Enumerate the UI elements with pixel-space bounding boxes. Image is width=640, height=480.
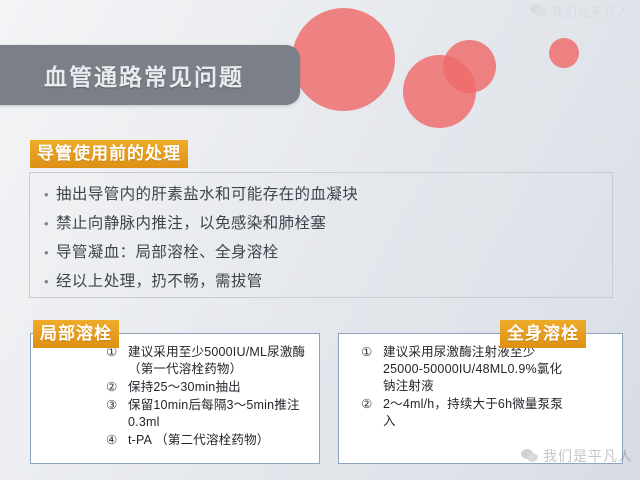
list-item-line: 建议采用至少5000IU/ML尿激酶 [128, 344, 305, 361]
bullet-dot-icon: • [44, 246, 56, 259]
list-item-number: ② [106, 379, 128, 396]
list-item-line: 入 [383, 413, 563, 430]
list-item-line: 2～4ml/h，持续大于6h微量泵泵 [383, 396, 563, 413]
list-item: ③ 保留10min后每隔3～5min推注 0.3ml [106, 397, 311, 431]
list-item-number: ③ [106, 397, 128, 414]
page-title: 血管通路常见问题 [44, 58, 244, 92]
local-thrombolysis-list: ① 建议采用至少5000IU/ML尿激酶 （第一代溶栓药物） ② 保持25～30… [31, 334, 319, 449]
list-item-line: 0.3ml [128, 414, 300, 431]
watermark-text: 我们是平凡人 [552, 3, 630, 20]
list-item-body: t-PA （第二代溶栓药物） [128, 432, 269, 449]
bullet-text: 禁止向静脉内推注，以免感染和肺栓塞 [56, 211, 326, 233]
list-item-line: （第一代溶栓药物） [128, 361, 305, 378]
list-item: ② 保持25～30min抽出 [106, 379, 311, 396]
local-thrombolysis-panel: ① 建议采用至少5000IU/ML尿激酶 （第一代溶栓药物） ② 保持25～30… [30, 333, 320, 464]
list-item: • 经以上处理，扔不畅，需拔管 [30, 269, 612, 298]
bullet-dot-icon: • [44, 275, 56, 288]
list-item-number: ① [361, 344, 383, 361]
list-item-body: 保留10min后每隔3～5min推注 0.3ml [128, 397, 300, 431]
bullet-text: 导管凝血：局部溶栓、全身溶栓 [56, 240, 279, 262]
bullet-text: 经以上处理，扔不畅，需拔管 [56, 269, 263, 291]
list-item: • 禁止向静脉内推注，以免感染和肺栓塞 [30, 211, 612, 240]
list-item-body: 建议采用至少5000IU/ML尿激酶 （第一代溶栓药物） [128, 344, 305, 378]
bullet-text: 抽出导管内的肝素盐水和可能存在的血凝块 [56, 182, 358, 204]
list-item-body: 2～4ml/h，持续大于6h微量泵泵 入 [383, 396, 563, 430]
decorative-circle-small [549, 38, 579, 68]
decorative-circle-large [292, 8, 395, 111]
list-item: ① 建议采用尿激酶注射液至少 25000-50000IU/48ML0.9%氯化 … [361, 344, 614, 395]
list-item-line: t-PA （第二代溶栓药物） [128, 432, 269, 449]
section-tag-pretreatment: 导管使用前的处理 [30, 140, 188, 168]
list-item-line: 25000-50000IU/48ML0.9%氯化 [383, 361, 562, 378]
list-item-number: ④ [106, 432, 128, 449]
list-item-body: 建议采用尿激酶注射液至少 25000-50000IU/48ML0.9%氯化 钠注… [383, 344, 562, 395]
wechat-icon [521, 449, 538, 464]
list-item-line: 钠注射液 [383, 378, 562, 395]
decorative-circle-medium-2 [443, 40, 496, 93]
systemic-thrombolysis-list: ① 建议采用尿激酶注射液至少 25000-50000IU/48ML0.9%氯化 … [339, 334, 622, 430]
watermark-bottom: 我们是平凡人 [521, 446, 633, 466]
list-item: • 导管凝血：局部溶栓、全身溶栓 [30, 240, 612, 269]
list-item-line: 保留10min后每隔3～5min推注 [128, 397, 300, 414]
bullet-dot-icon: • [44, 217, 56, 230]
list-item-number: ② [361, 396, 383, 413]
list-item-line: 保持25～30min抽出 [128, 379, 241, 396]
systemic-thrombolysis-panel: ① 建议采用尿激酶注射液至少 25000-50000IU/48ML0.9%氯化 … [338, 333, 623, 464]
list-item: ① 建议采用至少5000IU/ML尿激酶 （第一代溶栓药物） [106, 344, 311, 378]
list-item: ④ t-PA （第二代溶栓药物） [106, 432, 311, 449]
watermark-top: 我们是平凡人 [530, 3, 630, 20]
slide-title-bar: 血管通路常见问题 [0, 45, 300, 105]
section-tag-local-thrombolysis: 局部溶栓 [33, 320, 119, 348]
list-item: • 抽出导管内的肝素盐水和可能存在的血凝块 [30, 182, 612, 211]
watermark-text: 我们是平凡人 [543, 446, 633, 466]
bullet-dot-icon: • [44, 188, 56, 201]
list-item: ② 2～4ml/h，持续大于6h微量泵泵 入 [361, 396, 614, 430]
section-tag-systemic-thrombolysis: 全身溶栓 [500, 320, 586, 348]
wechat-icon [530, 4, 547, 19]
pretreatment-panel: • 抽出导管内的肝素盐水和可能存在的血凝块 • 禁止向静脉内推注，以免感染和肺栓… [29, 172, 613, 298]
slide-canvas: 血管通路常见问题 导管使用前的处理 • 抽出导管内的肝素盐水和可能存在的血凝块 … [0, 0, 640, 480]
list-item-body: 保持25～30min抽出 [128, 379, 241, 396]
